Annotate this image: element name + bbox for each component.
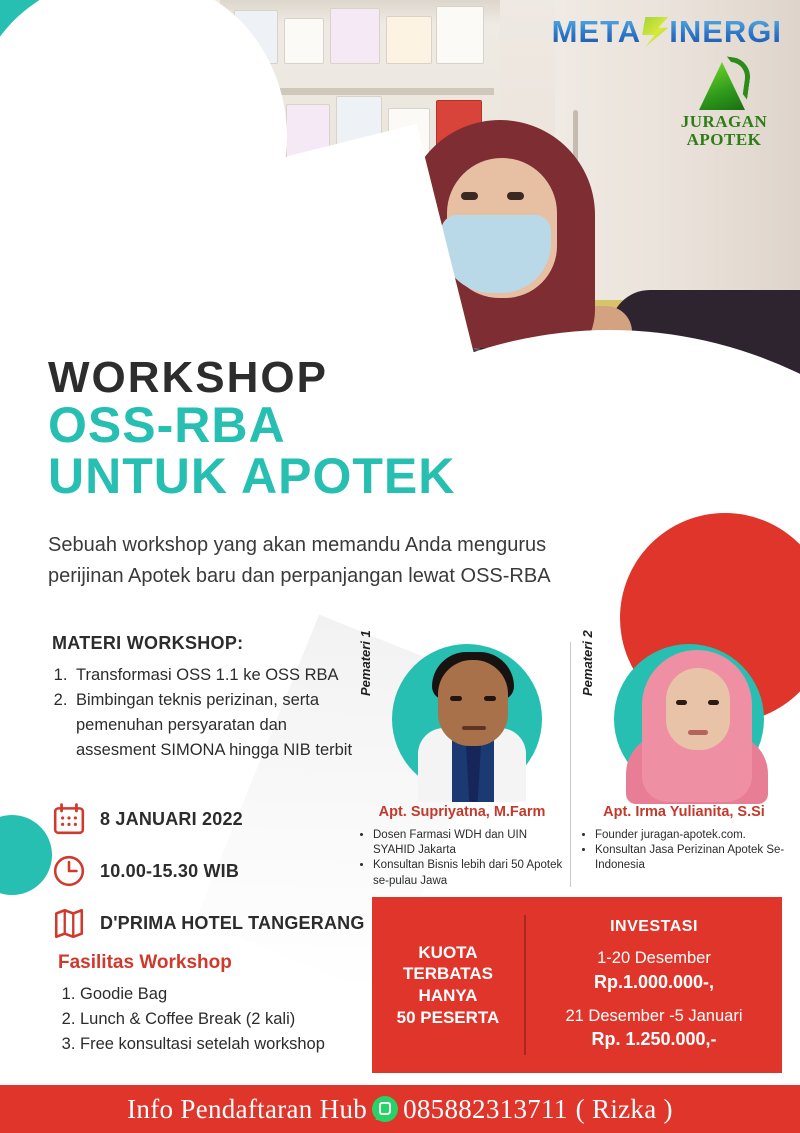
speaker-1-bullets: Dosen Farmasi WDH dan UIN SYAHID Jakarta… <box>360 828 566 889</box>
whatsapp-icon[interactable] <box>372 1096 398 1122</box>
event-date-row: 8 JANUARI 2022 <box>52 798 365 840</box>
speakers-section: Pemateri 1 Apt. Supriyatna, M.Farm Dosen… <box>358 640 788 890</box>
juragan-logo-line2: APOTEK <box>668 131 780 149</box>
metasinergi-s-icon <box>642 17 668 47</box>
speaker-2-vertical-label: Pemateri 2 <box>580 630 595 696</box>
title-line-ossrba: OSS-RBA <box>48 400 455 451</box>
metasinergi-logo: META INERGI <box>552 14 782 50</box>
fasilitas-item: Lunch & Coffee Break (2 kali) <box>80 1007 378 1032</box>
page-title: WORKSHOP OSS-RBA UNTUK APOTEK <box>48 356 455 502</box>
investasi-panel: INVESTASI 1-20 Desember Rp.1.000.000-, 2… <box>526 897 782 1073</box>
quota-line-2: TERBATAS <box>403 963 493 985</box>
metasinergi-logo-text-2: INERGI <box>669 14 782 50</box>
materi-item: Bimbingan teknis perizinan, serta pemenu… <box>72 688 362 763</box>
materi-list: Transformasi OSS 1.1 ke OSS RBA Bimbinga… <box>52 663 362 763</box>
investasi-tier2-period: 21 Desember -5 Januari <box>526 1006 782 1027</box>
fasilitas-list: Goodie Bag Lunch & Coffee Break (2 kali)… <box>58 982 378 1056</box>
investasi-tier1-price: Rp.1.000.000-, <box>526 970 782 994</box>
contact-footer-bar: Info Pendaftaran Hub 085882313711 ( Rizk… <box>0 1085 800 1133</box>
title-line-untuk-apotek: UNTUK APOTEK <box>48 451 455 502</box>
speaker-1-name: Apt. Supriyatna, M.Farm <box>358 804 566 820</box>
investasi-title: INVESTASI <box>526 918 782 936</box>
speaker-bullet: Founder juragan-apotek.com. <box>595 828 788 843</box>
speaker-bullet: Konsultan Bisnis lebih dari 50 Apotek se… <box>373 858 566 888</box>
event-date-text: 8 JANUARI 2022 <box>100 809 243 830</box>
subtitle-text: Sebuah workshop yang akan memandu Anda m… <box>48 530 608 592</box>
investasi-divider <box>524 915 526 1055</box>
investasi-tier2-price: Rp. 1.250.000,- <box>526 1027 782 1051</box>
calendar-icon <box>52 802 86 836</box>
speaker-2-name: Apt. Irma Yulianita, S.Si <box>580 804 788 820</box>
event-venue-text: D'PRIMA HOTEL TANGERANG <box>100 913 365 934</box>
clock-icon <box>52 854 86 888</box>
fasilitas-item: Free konsultasi setelah workshop <box>80 1032 378 1057</box>
quota-panel: KUOTA TERBATAS HANYA 50 PESERTA <box>372 897 524 1073</box>
fasilitas-item: Goodie Bag <box>80 982 378 1007</box>
juragan-logo-line1: JURAGAN <box>668 113 780 131</box>
speaker-2-bullets: Founder juragan-apotek.com. Konsultan Ja… <box>582 828 788 874</box>
metasinergi-logo-text-1: META <box>552 14 642 50</box>
map-icon <box>52 906 86 940</box>
title-line-workshop: WORKSHOP <box>48 356 455 400</box>
speaker-1-photo <box>382 642 558 802</box>
footer-prefix: Info Pendaftaran Hub <box>127 1094 367 1125</box>
quota-line-1: KUOTA <box>418 942 477 964</box>
footer-phone[interactable]: 085882313711 <box>403 1094 568 1125</box>
investasi-box: KUOTA TERBATAS HANYA 50 PESERTA INVESTAS… <box>372 897 782 1073</box>
event-info-rows: 8 JANUARI 2022 10.00-15.30 WIB D'PRIMA H… <box>52 798 365 954</box>
poster-root: META INERGI JURAGAN APOTEK WORKSHOP OSS-… <box>0 0 800 1133</box>
teal-dot-decor <box>0 815 52 895</box>
footer-contact-name: ( Rizka ) <box>576 1094 673 1125</box>
quota-line-4: 50 PESERTA <box>397 1007 500 1029</box>
event-time-text: 10.00-15.30 WIB <box>100 861 239 882</box>
materi-item: Transformasi OSS 1.1 ke OSS RBA <box>72 663 362 688</box>
speakers-divider <box>570 642 571 887</box>
event-venue-row: D'PRIMA HOTEL TANGERANG <box>52 902 365 944</box>
speaker-1-vertical-label: Pemateri 1 <box>358 630 373 696</box>
pharmacy-leaf-icon <box>695 58 753 112</box>
speaker-2-photo <box>604 642 780 802</box>
speaker-bullet: Dosen Farmasi WDH dan UIN SYAHID Jakarta <box>373 828 566 858</box>
materi-heading: MATERI WORKSHOP: <box>52 633 243 654</box>
investasi-tier1-period: 1-20 Desember <box>526 948 782 969</box>
fasilitas-heading: Fasilitas Workshop <box>58 952 232 974</box>
juragan-apotek-logo: JURAGAN APOTEK <box>668 58 780 149</box>
speaker-bullet: Konsultan Jasa Perizinan Apotek Se-Indon… <box>595 843 788 873</box>
quota-line-3: HANYA <box>419 985 478 1007</box>
event-time-row: 10.00-15.30 WIB <box>52 850 365 892</box>
